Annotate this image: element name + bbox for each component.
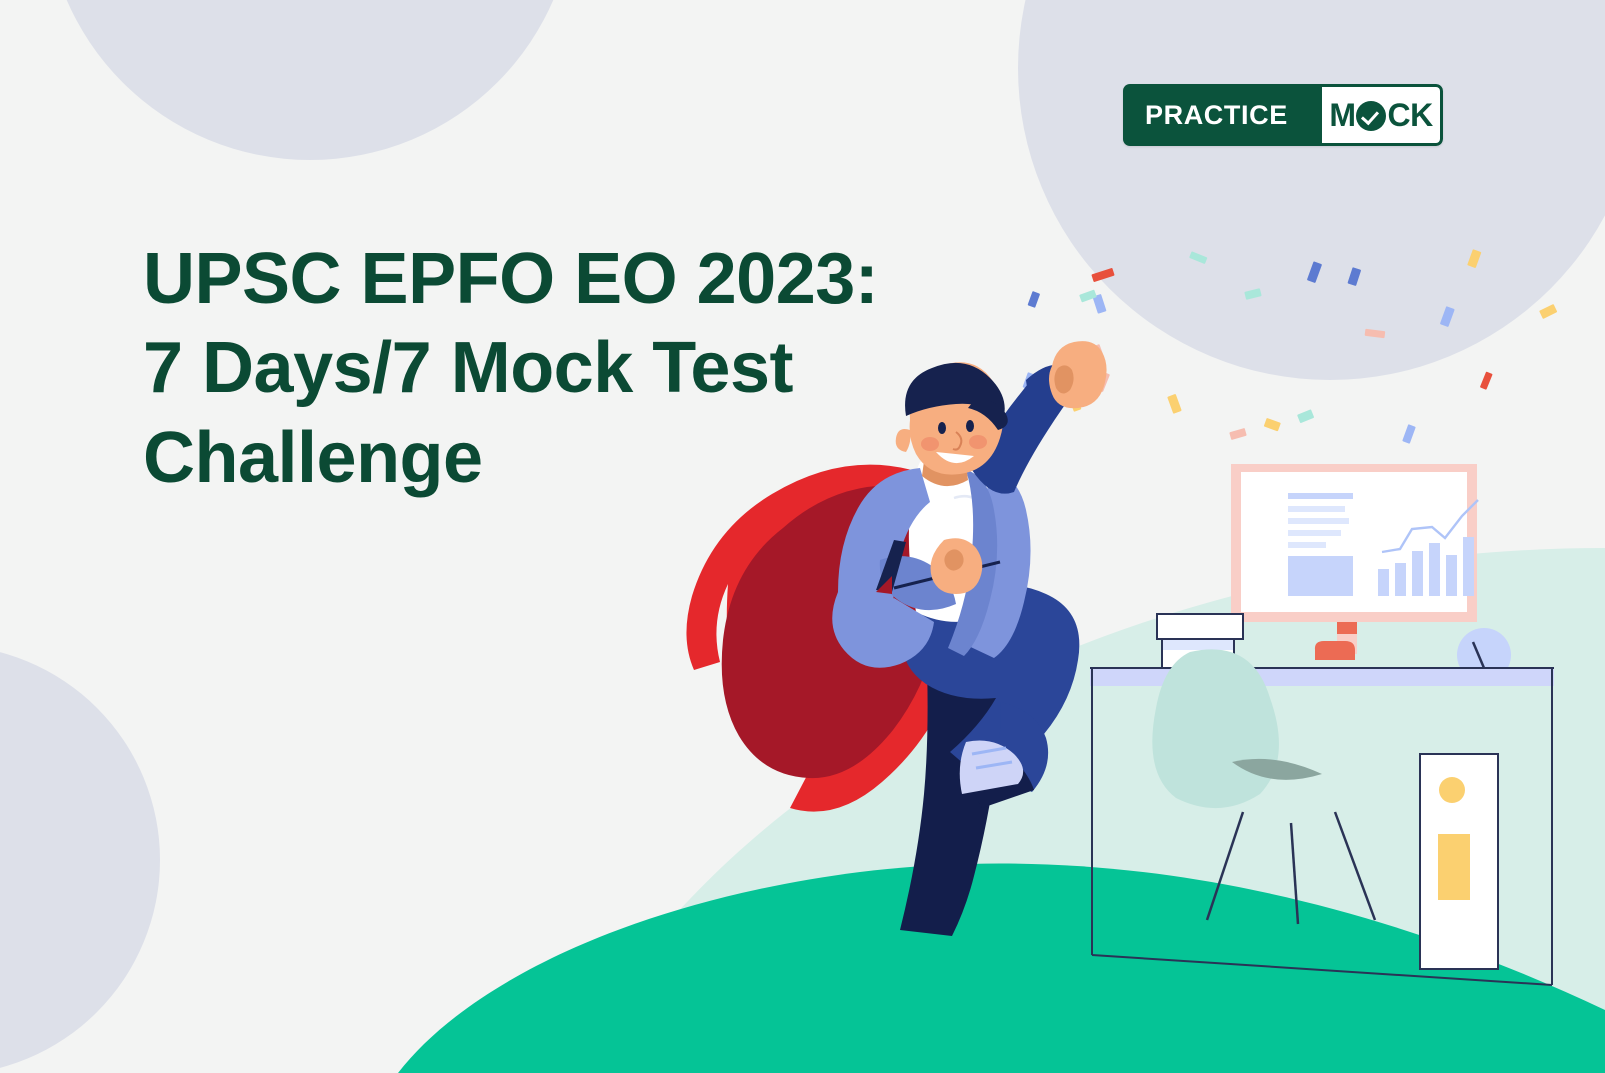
logo-mock-text: M CK: [1329, 97, 1432, 134]
raised-fist: [1049, 341, 1107, 408]
eye-left: [938, 422, 946, 434]
practicemock-logo[interactable]: PRACTICE M CK: [1123, 84, 1443, 146]
superhero-character: [0, 0, 1605, 1073]
promo-banner: PRACTICE M CK UPSC EPFO EO 2023: 7 Days/…: [0, 0, 1605, 1073]
page-title: UPSC EPFO EO 2023: 7 Days/7 Mock Test Ch…: [143, 235, 903, 503]
logo-practice-text: PRACTICE: [1145, 100, 1288, 131]
logo-mock-ck: CK: [1387, 97, 1432, 134]
logo-mock-block: M CK: [1322, 84, 1443, 146]
logo-mock-m: M: [1329, 97, 1355, 134]
eye-right: [966, 420, 974, 432]
blush-right: [969, 435, 987, 449]
check-circle-icon: [1356, 101, 1386, 131]
logo-practice-block: PRACTICE: [1123, 84, 1322, 146]
blush-left: [921, 437, 939, 451]
